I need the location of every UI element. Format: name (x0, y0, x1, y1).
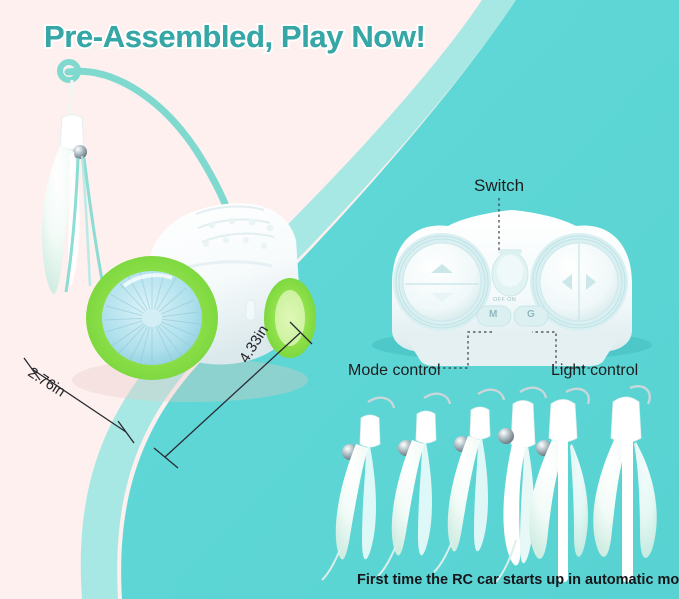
feather-group-5 (529, 389, 588, 582)
light-button-label: G (527, 309, 535, 320)
feather-group-6 (593, 386, 657, 582)
callout-label-switch: Switch (474, 176, 524, 196)
callout-label-mode-control: Mode control (348, 362, 441, 380)
power-switch-button[interactable] (492, 253, 528, 297)
infographic-canvas: Pre-Assembled, Play Now! Pre-Assembled, … (0, 0, 679, 599)
bottom-caption: First time the RC car starts up in autom… (357, 572, 679, 588)
callout-label-light-control: Light control (551, 362, 638, 380)
feather-group-1 (322, 398, 394, 580)
feather-group-2 (378, 394, 450, 576)
feather-group-3 (434, 390, 504, 572)
mode-button-label: M (489, 309, 497, 320)
page-title: Pre-Assembled, Play Now! (44, 19, 425, 55)
switch-offon-label: OFF ON (493, 297, 516, 303)
